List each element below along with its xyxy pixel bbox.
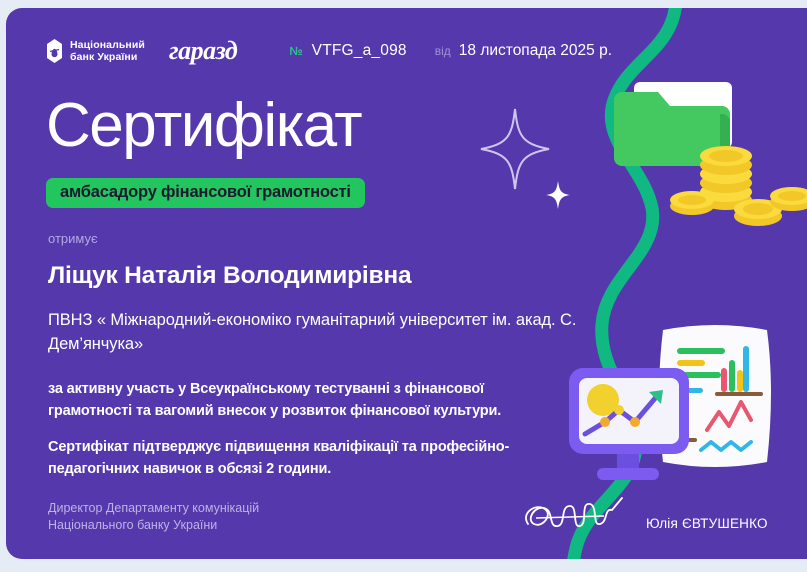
- certificate-header: Національний банк України гаразд № VTFG_…: [46, 34, 612, 68]
- sparkle-small-icon: [545, 180, 571, 210]
- nbu-logo: Національний банк України: [46, 38, 145, 64]
- subtitle-badge: амбасадору фінансової грамотності: [46, 178, 365, 208]
- nbu-logo-text: Національний банк України: [70, 39, 145, 64]
- institution-name: ПВНЗ « Міжнародний-економіко гуманітарни…: [48, 308, 593, 356]
- receives-label: отримує: [48, 231, 98, 246]
- recipient-name: Ліщук Наталія Володимирівна: [48, 262, 411, 290]
- date-value: 18 листопада 2025 р.: [459, 42, 612, 60]
- nbu-emblem-icon: [46, 38, 63, 64]
- certificate-panel: Національний банк України гаразд № VTFG_…: [6, 8, 807, 559]
- signature-scribble: [518, 490, 638, 540]
- body-paragraph-2: Сертифікат підтверджує підвищення кваліф…: [48, 436, 558, 480]
- body-paragraph-1: за активну участь у Всеукраїнському тест…: [48, 378, 558, 422]
- number-sign: №: [289, 44, 302, 58]
- page-title: Сертифікат: [46, 91, 361, 161]
- sparkle-large-icon: [478, 106, 552, 192]
- program-logo: гаразд: [169, 36, 237, 66]
- signatory-role: Директор Департаменту комунікацій Націон…: [48, 500, 259, 534]
- number-value: VTFG_a_098: [312, 42, 407, 60]
- certificate-number: № VTFG_a_098: [289, 42, 406, 60]
- certificate-canvas: Національний банк України гаразд № VTFG_…: [0, 0, 807, 572]
- certificate-date: від 18 листопада 2025 р.: [435, 42, 612, 60]
- date-label: від: [435, 44, 451, 58]
- folder-with-coins-illustration: [606, 70, 807, 250]
- signatory-name: Юлія ЄВТУШЕНКО: [646, 516, 768, 531]
